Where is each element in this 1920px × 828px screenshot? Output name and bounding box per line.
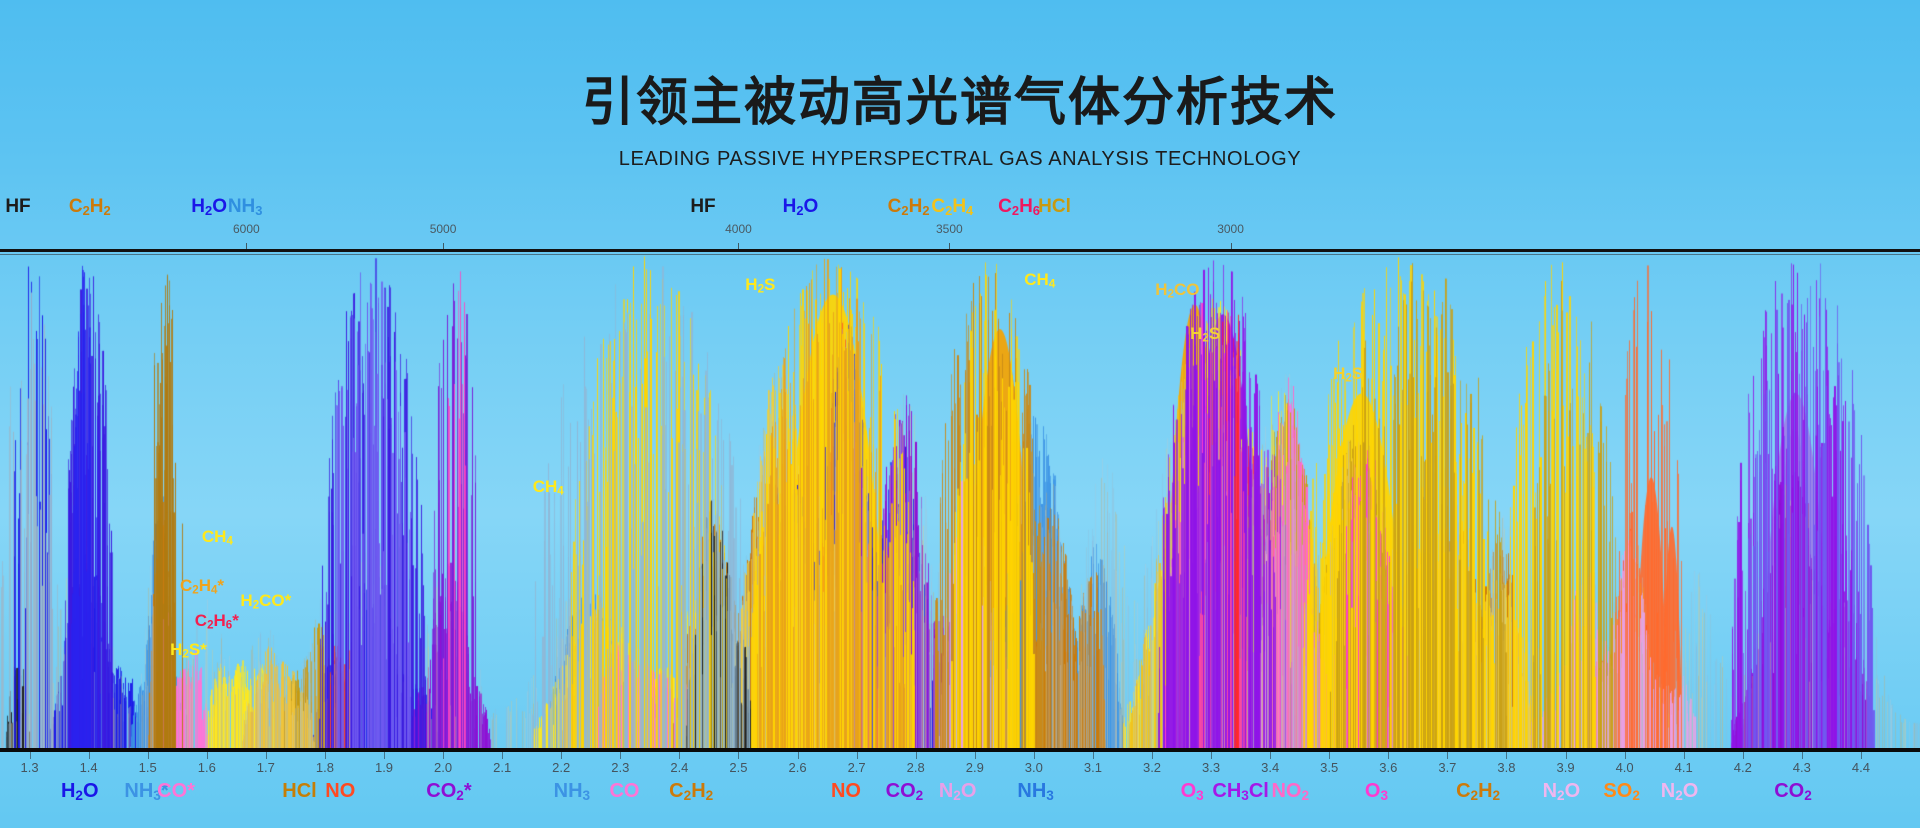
- bottom-species-label-no: NO: [325, 780, 355, 803]
- bottom-axis-tick-mark: [384, 752, 385, 759]
- bottom-axis-tick-mark: [1329, 752, 1330, 759]
- bottom-axis-tick-label: 1.4: [80, 760, 98, 775]
- top-species-label-h2o: H2O: [783, 196, 819, 218]
- bottom-axis-tick-mark: [1743, 752, 1744, 759]
- bottom-axis-tick-label: 4.2: [1734, 760, 1752, 775]
- top-axis-label-band: HFC2H2H2ONH3HFH2OC2H2C2H4C2H6HCl60005000…: [0, 196, 1920, 252]
- bottom-axis-tick-mark: [679, 752, 680, 759]
- bottom-axis-tick-mark: [620, 752, 621, 759]
- top-species-label-c2h6: C2H6: [998, 196, 1040, 218]
- bottom-species-label-n2o: N2O: [939, 780, 977, 803]
- bottom-axis-tick-label: 1.8: [316, 760, 334, 775]
- bottom-axis-tick-mark: [1625, 752, 1626, 759]
- bottom-axis-tick-label: 3.2: [1143, 760, 1161, 775]
- bottom-axis-tick-mark: [1388, 752, 1389, 759]
- bottom-axis-tick-label: 2.3: [611, 760, 629, 775]
- top-species-label-c2h2: C2H2: [69, 196, 111, 218]
- bottom-axis-tick-mark: [325, 752, 326, 759]
- bottom-species-label-o3: O3: [1181, 780, 1204, 803]
- top-axis-tick-label: 4000: [725, 222, 752, 236]
- bottom-axis-tick-mark: [89, 752, 90, 759]
- bottom-axis-tick-mark: [148, 752, 149, 759]
- bottom-axis-tick-label: 2.7: [848, 760, 866, 775]
- spectral-lines-canvas: [0, 255, 1920, 749]
- bottom-axis-tick-label: 3.8: [1497, 760, 1515, 775]
- bottom-axis-tick-mark: [857, 752, 858, 759]
- bottom-axis-tick-mark: [1684, 752, 1685, 759]
- bottom-axis-tick-label: 3.9: [1556, 760, 1574, 775]
- bottom-axis-tick-label: 1.6: [198, 760, 216, 775]
- bottom-axis-tick-label: 2.5: [729, 760, 747, 775]
- bottom-axis-tick-label: 2.8: [907, 760, 925, 775]
- bottom-axis-tick-mark: [443, 752, 444, 759]
- bottom-axis-tick-label: 2.4: [670, 760, 688, 775]
- bottom-axis-tick-label: 3.5: [1320, 760, 1338, 775]
- bottom-axis-tick-mark: [916, 752, 917, 759]
- bottom-species-label-ch3cl: CH3Cl: [1212, 780, 1268, 803]
- top-species-label-hf: HF: [5, 196, 30, 218]
- spectrum-plot: H2SCH4H2COH2SH2SCH4CH4C2H4*C2H6*H2S*H2CO…: [0, 249, 1920, 752]
- top-species-label-c2h2: C2H2: [888, 196, 930, 218]
- top-species-label-hf: HF: [690, 196, 715, 218]
- bottom-species-label-nh3: NH3: [554, 780, 590, 803]
- bottom-species-label-o3: O3: [1365, 780, 1388, 803]
- bottom-axis-tick-label: 3.0: [1025, 760, 1043, 775]
- bottom-axis-tick-mark: [1447, 752, 1448, 759]
- bottom-axis-tick-mark: [1506, 752, 1507, 759]
- bottom-axis-tick-mark: [1270, 752, 1271, 759]
- top-axis-tick-label: 6000: [233, 222, 260, 236]
- bottom-axis-tick-label: 4.0: [1616, 760, 1634, 775]
- spectral-lines-canvas-container: [0, 255, 1920, 749]
- page-header: 引领主被动高光谱气体分析技术 LEADING PASSIVE HYPERSPEC…: [0, 0, 1920, 200]
- bottom-axis-tick-mark: [1861, 752, 1862, 759]
- bottom-axis-tick-label: 2.0: [434, 760, 452, 775]
- bottom-species-label-h2o: H2O: [61, 780, 99, 803]
- top-species-label-c2h4: C2H4: [931, 196, 973, 218]
- bottom-axis-tick-mark: [1093, 752, 1094, 759]
- bottom-species-label-co: CO*: [157, 780, 195, 803]
- page-subtitle: LEADING PASSIVE HYPERSPECTRAL GAS ANALYS…: [0, 148, 1920, 171]
- bottom-species-label-c2h2: C2H2: [669, 780, 713, 803]
- bottom-species-label-hcl: HCl: [282, 780, 316, 803]
- bottom-species-label-no2: NO2: [1271, 780, 1309, 803]
- top-species-label-h2o: H2O: [191, 196, 227, 218]
- bottom-axis-tick-label: 3.6: [1379, 760, 1397, 775]
- bottom-axis-tick-label: 2.2: [552, 760, 570, 775]
- top-species-label-nh3: NH3: [228, 196, 263, 218]
- bottom-axis-tick-mark: [561, 752, 562, 759]
- bottom-axis-tick-mark: [1802, 752, 1803, 759]
- bottom-axis-tick-mark: [1034, 752, 1035, 759]
- bottom-axis-tick-mark: [30, 752, 31, 759]
- plot-top-axis-line: [0, 249, 1920, 252]
- bottom-axis-tick-label: 4.1: [1675, 760, 1693, 775]
- top-axis-tick-label: 3000: [1217, 222, 1244, 236]
- top-axis-tick-label: 5000: [430, 222, 457, 236]
- bottom-axis-tick-mark: [975, 752, 976, 759]
- bottom-species-label-co2: CO2: [886, 780, 924, 803]
- bottom-axis-tick-label: 2.9: [966, 760, 984, 775]
- bottom-species-label-co: CO: [609, 780, 639, 803]
- bottom-species-label-n2o: N2O: [1661, 780, 1699, 803]
- bottom-axis-tick-label: 4.3: [1793, 760, 1811, 775]
- bottom-species-label-nh3: NH3: [1017, 780, 1053, 803]
- bottom-axis-tick-mark: [1566, 752, 1567, 759]
- bottom-species-label-no: NO: [831, 780, 861, 803]
- bottom-axis-tick-mark: [266, 752, 267, 759]
- bottom-species-label-n2o: N2O: [1543, 780, 1581, 803]
- bottom-axis-tick-mark: [798, 752, 799, 759]
- bottom-axis-tick-label: 1.5: [139, 760, 157, 775]
- bottom-axis-tick-label: 3.3: [1202, 760, 1220, 775]
- bottom-axis-tick-mark: [1152, 752, 1153, 759]
- bottom-axis-tick-mark: [207, 752, 208, 759]
- bottom-species-label-co2: CO2: [1774, 780, 1812, 803]
- bottom-axis-label-band: 1.31.41.51.61.71.81.92.02.12.22.32.42.52…: [0, 752, 1920, 828]
- bottom-axis-tick-mark: [738, 752, 739, 759]
- page-title: 引领主被动高光谱气体分析技术: [0, 60, 1920, 135]
- bottom-axis-tick-label: 2.6: [788, 760, 806, 775]
- bottom-species-label-c2h2: C2H2: [1456, 780, 1500, 803]
- bottom-axis-tick-label: 1.9: [375, 760, 393, 775]
- bottom-axis-tick-label: 4.4: [1852, 760, 1870, 775]
- bottom-axis-tick-label: 3.4: [1261, 760, 1279, 775]
- bottom-axis-tick-mark: [502, 752, 503, 759]
- bottom-axis-tick-label: 3.1: [1084, 760, 1102, 775]
- top-species-label-hcl: HCl: [1038, 196, 1071, 218]
- top-axis-tick-label: 3500: [936, 222, 963, 236]
- bottom-axis-tick-label: 2.1: [493, 760, 511, 775]
- bottom-species-label-co2: CO2*: [426, 780, 471, 803]
- bottom-species-label-so2: SO2: [1603, 780, 1639, 803]
- bottom-axis-tick-label: 3.7: [1438, 760, 1456, 775]
- bottom-axis-tick-mark: [1211, 752, 1212, 759]
- bottom-axis-tick-label: 1.7: [257, 760, 275, 775]
- bottom-axis-tick-label: 1.3: [20, 760, 38, 775]
